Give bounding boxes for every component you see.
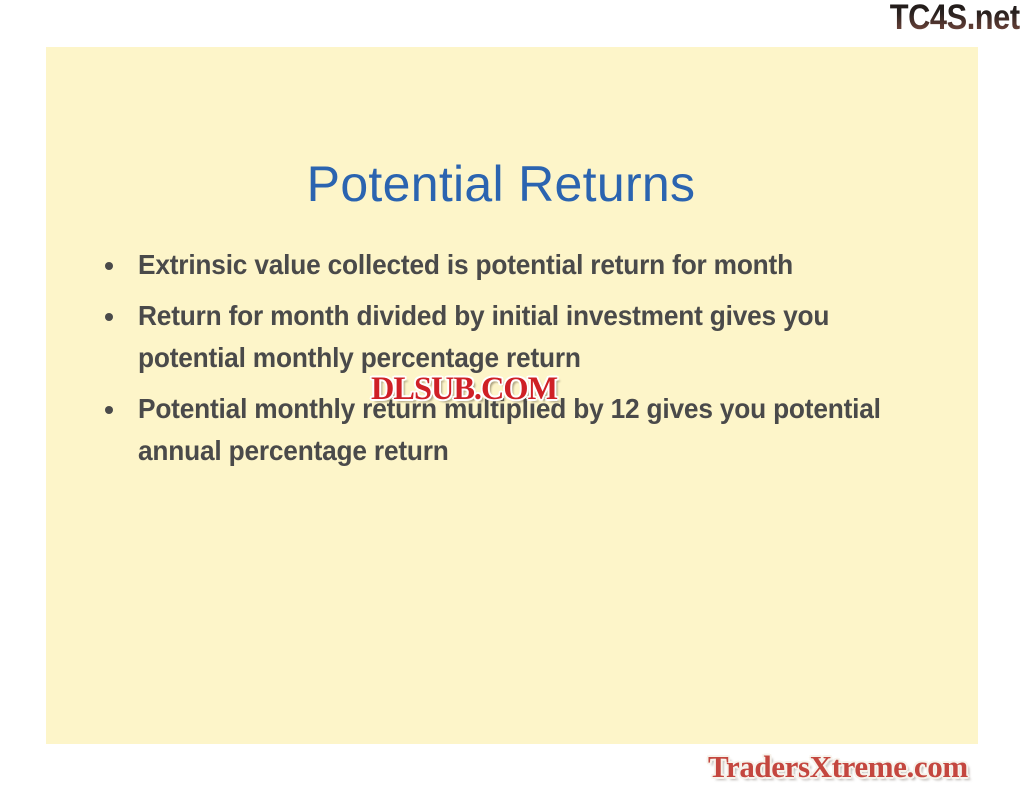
list-item-label: Return for month divided by initial inve… xyxy=(138,295,933,379)
bullet-dot-icon xyxy=(105,406,113,414)
page-title: Potential Returns xyxy=(46,155,978,213)
bullet-list: Extrinsic value collected is potential r… xyxy=(98,244,970,481)
list-item-label: Extrinsic value collected is potential r… xyxy=(138,244,933,286)
site-logo-tc4s: TC4S.net xyxy=(890,0,1020,38)
slide-screenshot: { "header_logo": { "text": "TC4S.net", "… xyxy=(0,0,1024,791)
bullet-dot-icon xyxy=(105,313,113,321)
list-item: Return for month divided by initial inve… xyxy=(98,295,970,379)
list-item: Extrinsic value collected is potential r… xyxy=(98,244,970,286)
bullet-dot-icon xyxy=(105,262,113,270)
footer-logo-tradersxtreme: TradersXtreme.com xyxy=(708,749,968,785)
watermark-dlsub: DLSUB.COM xyxy=(371,372,557,406)
